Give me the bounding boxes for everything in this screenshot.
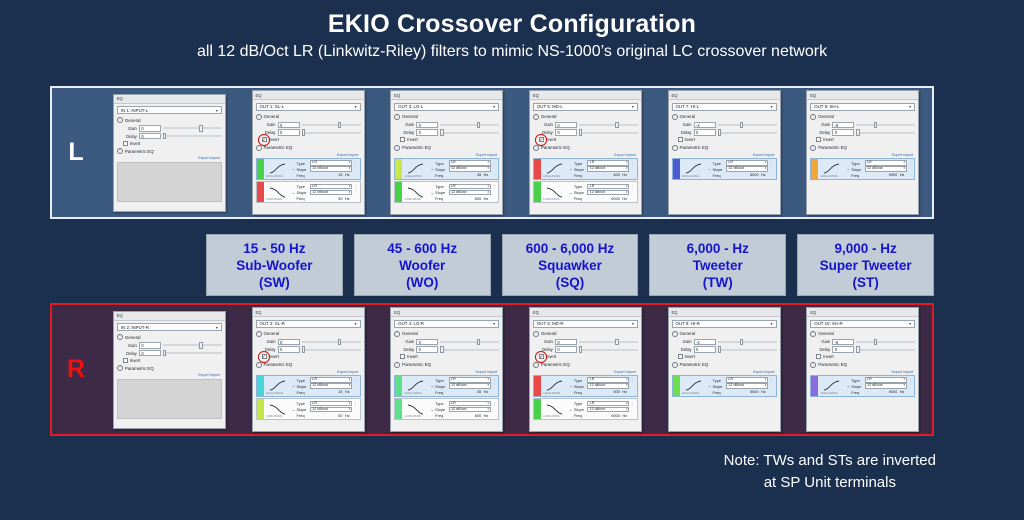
filter-menu-icon[interactable]: ⋮ xyxy=(354,378,358,383)
filter-freq-value[interactable]: 15 xyxy=(310,173,344,177)
delay-slider[interactable] xyxy=(163,133,222,140)
gain-input[interactable]: 0 xyxy=(555,122,577,129)
filter-band-lowpass[interactable]: LOW-PASS⌄TypeLR▾⋮Slope12 dB/oct▾Freq50Hz xyxy=(256,398,361,420)
filter-band-highpass[interactable]: HIGH-PASS⌄TypeLR▾⋮Slope12 dB/oct▾Freq15H… xyxy=(256,375,361,397)
eq-window[interactable]: EQIN 2: INPUT-R▾⌃GeneralGain0Delay0Inver… xyxy=(113,311,226,429)
delay-control[interactable]: Delay0 xyxy=(539,346,638,353)
delay-control[interactable]: Delay0 xyxy=(123,350,222,357)
device-select[interactable]: OUT 6: MD-R▾ xyxy=(533,320,638,328)
filter-slope-select[interactable]: 12 dB/oct▾ xyxy=(310,407,352,412)
parametric-eq-section-header[interactable]: ⌃Parametric EQ xyxy=(117,365,222,371)
general-section-header[interactable]: ⌃General xyxy=(117,334,222,340)
invert-label: Invert xyxy=(546,354,556,359)
filter-kind-label: HIGH-PASS xyxy=(405,174,422,178)
filter-freq-value[interactable]: 6000 xyxy=(726,390,760,394)
invert-control[interactable]: Invert xyxy=(816,137,915,142)
band-frequency-range: 45 - 600 Hz xyxy=(387,240,457,257)
eq-window-title: EQ xyxy=(530,91,641,100)
invert-checkbox[interactable]: ✓ xyxy=(262,137,267,142)
gain-control[interactable]: Gain-4 xyxy=(678,122,777,129)
invert-control[interactable]: Invert xyxy=(123,358,222,363)
parametric-eq-section-header[interactable]: ⌃Parametric EQ xyxy=(117,148,222,154)
right-panel-group: EQIN 2: INPUT-R▾⌃GeneralGain0Delay0Inver… xyxy=(100,305,932,434)
gain-control[interactable]: Gain0 xyxy=(123,342,222,349)
invert-checkbox[interactable] xyxy=(816,137,821,142)
filter-type-select[interactable]: LR▾ xyxy=(587,401,629,406)
gain-slider[interactable] xyxy=(718,339,777,346)
invert-checkbox[interactable] xyxy=(123,141,128,146)
eq-window[interactable]: EQOUT 7: HI-L▾⌃GeneralGain-4Delay0Invert… xyxy=(668,90,781,215)
invert-control[interactable]: Invert xyxy=(678,137,777,142)
eq-window-title: EQ xyxy=(114,95,225,104)
eq-window[interactable]: EQOUT 2: SL-R▾⌃GeneralGain0Delay0✓Invert… xyxy=(252,307,365,432)
filter-band-lowpass[interactable]: LOW-PASS⌄TypeLR▾⋮Slope12 dB/oct▾Freq6000… xyxy=(533,398,638,420)
gain-label: Gain xyxy=(262,339,276,344)
filter-band-highpass[interactable]: HIGH-PASS⌄TypeLR▾⋮Slope12 dB/oct▾Freq600… xyxy=(533,158,638,180)
filter-band-highpass[interactable]: HIGH-PASS⌄TypeLR▾⋮Slope12 dB/oct▾Freq45H… xyxy=(394,375,499,397)
device-select[interactable]: OUT 4: LO-R▾ xyxy=(394,320,499,328)
filter-band-highpass[interactable]: HIGH-PASS⌄TypeLR▾⋮Slope12 dB/oct▾Freq15H… xyxy=(256,158,361,180)
gain-input[interactable]: 0 xyxy=(416,122,438,129)
filter-slope-select[interactable]: 12 dB/oct▾ xyxy=(726,166,768,171)
delay-slider[interactable] xyxy=(163,350,222,357)
filter-freq-value[interactable]: 600 xyxy=(587,173,621,177)
filter-type-select[interactable]: LR▾ xyxy=(449,184,491,189)
eq-window-title: EQ xyxy=(391,308,502,317)
delay-input[interactable]: 0 xyxy=(139,350,161,357)
filter-menu-icon[interactable]: ⋮ xyxy=(631,378,635,383)
eq-window[interactable]: EQOUT 10: SH-R▾⌃GeneralGain-5Delay0Inver… xyxy=(806,307,919,432)
delay-slider[interactable] xyxy=(718,346,777,353)
parametric-eq-section-header[interactable]: ⌃Parametric EQ xyxy=(256,145,361,151)
general-section-header[interactable]: ⌃General xyxy=(533,331,638,337)
filter-band-lowpass[interactable]: LOW-PASS⌄TypeLR▾⋮Slope12 dB/oct▾Freq50Hz xyxy=(256,181,361,203)
filter-menu-icon[interactable]: ⋮ xyxy=(354,161,358,166)
delay-input[interactable]: 0 xyxy=(555,129,577,136)
invert-control[interactable]: Invert xyxy=(816,354,915,359)
filter-menu-icon[interactable]: ⋮ xyxy=(631,401,635,406)
filter-slope-label: Slope xyxy=(435,384,447,389)
delay-control[interactable]: Delay0 xyxy=(539,129,638,136)
invert-label: Invert xyxy=(130,141,140,146)
invert-control[interactable]: Invert xyxy=(678,354,777,359)
device-select[interactable]: OUT 9: SH-L▾ xyxy=(810,103,915,111)
filter-slope-select[interactable]: 12 dB/oct▾ xyxy=(449,190,491,195)
filter-band-highpass[interactable]: HIGH-PASS⌄TypeLR▾⋮Slope12 dB/oct▾Freq600… xyxy=(533,375,638,397)
delay-input[interactable]: 0 xyxy=(416,129,438,136)
filter-type-select[interactable]: LR▾ xyxy=(310,401,352,406)
filter-slope-select[interactable]: 12 dB/oct▾ xyxy=(449,407,491,412)
parametric-eq-section-header[interactable]: ⌃Parametric EQ xyxy=(672,145,777,151)
filter-slope-label: Slope xyxy=(851,384,863,389)
delay-input[interactable]: 0 xyxy=(278,346,300,353)
general-section-header[interactable]: ⌃General xyxy=(672,114,777,120)
filter-slope-select[interactable]: 12 dB/oct▾ xyxy=(865,166,907,171)
filter-slope-select[interactable]: 12 dB/oct▾ xyxy=(310,190,352,195)
general-section-header[interactable]: ⌃General xyxy=(533,114,638,120)
filter-color-bar xyxy=(811,159,818,179)
delay-label: Delay xyxy=(816,347,830,352)
parametric-eq-label: Parametric EQ xyxy=(541,145,570,150)
filter-band-highpass[interactable]: HIGH-PASS⌄TypeLR▾⋮Slope12 dB/oct▾Freq600… xyxy=(672,158,777,180)
export-import-link[interactable]: Export Import xyxy=(256,153,359,157)
filter-color-bar xyxy=(257,182,264,202)
invert-control[interactable]: Invert xyxy=(123,141,222,146)
band-label-tw: 6,000 - HzTweeter(TW) xyxy=(649,234,786,296)
collapse-icon: ⌃ xyxy=(256,114,262,120)
filter-type-select[interactable]: LR▾ xyxy=(865,160,907,165)
parametric-eq-section-header[interactable]: ⌃Parametric EQ xyxy=(810,145,915,151)
gain-control[interactable]: Gain0 xyxy=(539,122,638,129)
export-import-link[interactable]: Export Import xyxy=(810,153,913,157)
page-title: EKIO Crossover Configuration xyxy=(0,9,1024,39)
filter-menu-icon[interactable]: ⋮ xyxy=(492,184,496,189)
eq-window[interactable]: EQOUT 9: SH-L▾⌃GeneralGain-5Delay0Invert… xyxy=(806,90,919,215)
eq-window[interactable]: EQIN 1: INPUT-L▾⌃GeneralGain0Delay0Inver… xyxy=(113,94,226,212)
device-select[interactable]: IN 1: INPUT-L▾ xyxy=(117,106,222,114)
gain-slider[interactable] xyxy=(302,122,361,129)
gain-control[interactable]: Gain0 xyxy=(262,339,361,346)
gain-slider[interactable] xyxy=(302,339,361,346)
filter-kind-label: HIGH-PASS xyxy=(266,391,283,395)
delay-slider[interactable] xyxy=(856,129,915,136)
filter-color-bar xyxy=(257,376,264,396)
export-import-link[interactable]: Export Import xyxy=(533,370,636,374)
filter-type-select[interactable]: LR▾ xyxy=(449,160,491,165)
chevron-down-icon: ▾ xyxy=(216,325,218,330)
filter-band-lowpass[interactable]: LOW-PASS⌄TypeLR▾⋮Slope12 dB/oct▾Freq6000… xyxy=(533,181,638,203)
invert-checkbox[interactable] xyxy=(400,137,405,142)
filter-curve-icon: LOW-PASS xyxy=(541,399,568,419)
parametric-eq-section-header[interactable]: ⌃Parametric EQ xyxy=(533,145,638,151)
invert-control[interactable]: ✓Invert xyxy=(262,354,361,359)
filter-curve-icon: HIGH-PASS xyxy=(264,159,291,179)
filter-kind-label: HIGH-PASS xyxy=(682,391,699,395)
gain-input[interactable]: 0 xyxy=(278,122,300,129)
filter-type-label: Type xyxy=(297,161,309,166)
invert-control[interactable]: ✓Invert xyxy=(539,137,638,142)
filter-menu-icon[interactable]: ⋮ xyxy=(631,161,635,166)
filter-menu-icon[interactable]: ⋮ xyxy=(492,378,496,383)
parametric-eq-section-header[interactable]: ⌃Parametric EQ xyxy=(256,362,361,368)
collapse-icon: ⌃ xyxy=(810,362,816,368)
filter-type-select[interactable]: LR▾ xyxy=(310,184,352,189)
gain-control[interactable]: Gain0 xyxy=(262,122,361,129)
delay-control[interactable]: Delay0 xyxy=(262,129,361,136)
delay-slider[interactable] xyxy=(302,129,361,136)
filter-type-select[interactable]: LR▾ xyxy=(587,184,629,189)
delay-control[interactable]: Delay0 xyxy=(678,129,777,136)
filter-menu-icon[interactable]: ⋮ xyxy=(631,184,635,189)
device-select[interactable]: OUT 5: MD-L▾ xyxy=(533,103,638,111)
gain-control[interactable]: Gain0 xyxy=(400,339,499,346)
delay-control[interactable]: Delay0 xyxy=(816,346,915,353)
general-section-header[interactable]: ⌃General xyxy=(394,331,499,337)
invert-label: Invert xyxy=(685,137,695,142)
filter-band-highpass[interactable]: HIGH-PASS⌄TypeLR▾⋮Slope12 dB/oct▾Freq600… xyxy=(672,375,777,397)
delay-input[interactable]: 0 xyxy=(416,346,438,353)
gain-input[interactable]: 0 xyxy=(555,339,577,346)
filter-freq-value[interactable]: 6000 xyxy=(726,173,760,177)
gain-slider[interactable] xyxy=(163,342,222,349)
filter-type-select[interactable]: LR▾ xyxy=(449,401,491,406)
device-select-value: IN 1: INPUT-L xyxy=(121,108,148,113)
gain-slider[interactable] xyxy=(856,122,915,129)
gain-control[interactable]: Gain0 xyxy=(123,125,222,132)
filter-type-label: Type xyxy=(713,161,725,166)
general-section-header[interactable]: ⌃General xyxy=(672,331,777,337)
filter-kind-label: LOW-PASS xyxy=(405,414,421,418)
left-channel-row: L EQIN 1: INPUT-L▾⌃GeneralGain0Delay0Inv… xyxy=(50,86,934,219)
filter-freq-value[interactable]: 6000 xyxy=(587,197,621,201)
filter-slope-select[interactable]: 12 dB/oct▾ xyxy=(587,190,629,195)
invert-checkbox[interactable] xyxy=(123,358,128,363)
delay-label: Delay xyxy=(400,130,414,135)
delay-label: Delay xyxy=(123,351,137,356)
general-section-label: General xyxy=(818,114,834,119)
filter-menu-icon[interactable]: ⋮ xyxy=(908,378,912,383)
general-section-header[interactable]: ⌃General xyxy=(117,117,222,123)
device-select[interactable]: OUT 3: LO-L▾ xyxy=(394,103,499,111)
filter-freq-value[interactable]: 45 xyxy=(449,390,483,394)
general-section-header[interactable]: ⌃General xyxy=(256,114,361,120)
delay-control[interactable]: Delay0 xyxy=(123,133,222,140)
filter-kind-label: LOW-PASS xyxy=(405,197,421,201)
invert-control[interactable]: ✓Invert xyxy=(539,354,638,359)
filter-band-highpass[interactable]: HIGH-PASS⌄TypeLR▾⋮Slope12 dB/oct▾Freq900… xyxy=(810,158,915,180)
filter-slope-select[interactable]: 12 dB/oct▾ xyxy=(587,407,629,412)
eq-window[interactable]: EQOUT 5: MD-L▾⌃GeneralGain0Delay0✓Invert… xyxy=(529,90,642,215)
eq-window-title: EQ xyxy=(391,91,502,100)
filter-list: HIGH-PASS⌄TypeLR▾⋮Slope12 dB/oct▾Freq45H… xyxy=(394,375,499,421)
invert-control[interactable]: ✓Invert xyxy=(262,137,361,142)
delay-control[interactable]: Delay0 xyxy=(678,346,777,353)
delay-label: Delay xyxy=(678,347,692,352)
delay-input[interactable]: 0 xyxy=(832,129,854,136)
delay-slider[interactable] xyxy=(856,346,915,353)
gain-input[interactable]: 0 xyxy=(416,339,438,346)
delay-input[interactable]: 0 xyxy=(694,346,716,353)
gain-input[interactable]: -5 xyxy=(832,122,854,129)
filter-freq-value[interactable]: 50 xyxy=(310,414,344,418)
eq-window[interactable]: EQOUT 1: SL-L▾⌃GeneralGain0Delay0✓Invert… xyxy=(252,90,365,215)
filter-slope-label: Slope xyxy=(435,167,447,172)
delay-label: Delay xyxy=(816,130,830,135)
filter-type-select[interactable]: LR▾ xyxy=(449,377,491,382)
parametric-eq-section-header[interactable]: ⌃Parametric EQ xyxy=(533,362,638,368)
filter-type-label: Type xyxy=(435,161,447,166)
delay-input[interactable]: 0 xyxy=(278,129,300,136)
filter-slope-select[interactable]: 12 dB/oct▾ xyxy=(449,166,491,171)
right-channel-row: R EQIN 2: INPUT-R▾⌃GeneralGain0Delay0Inv… xyxy=(50,303,934,436)
invert-checkbox[interactable] xyxy=(816,354,821,359)
gain-control[interactable]: Gain0 xyxy=(539,339,638,346)
general-section-header[interactable]: ⌃General xyxy=(256,331,361,337)
filter-type-label: Type xyxy=(713,378,725,383)
filter-freq-value[interactable]: 50 xyxy=(310,197,344,201)
filter-band-highpass[interactable]: HIGH-PASS⌄TypeLR▾⋮Slope12 dB/oct▾Freq45H… xyxy=(394,158,499,180)
filter-type-select[interactable]: LR▾ xyxy=(865,377,907,382)
general-section-header[interactable]: ⌃General xyxy=(810,114,915,120)
delay-input[interactable]: 0 xyxy=(139,133,161,140)
filter-freq-label: Freq xyxy=(435,196,447,201)
delay-control[interactable]: Delay0 xyxy=(816,129,915,136)
parametric-eq-section-header[interactable]: ⌃Parametric EQ xyxy=(394,145,499,151)
filter-type-select[interactable]: LR▾ xyxy=(587,160,629,165)
filter-type-select[interactable]: LR▾ xyxy=(310,160,352,165)
parametric-eq-section-header[interactable]: ⌃Parametric EQ xyxy=(810,362,915,368)
device-select[interactable]: OUT 10: SH-R▾ xyxy=(810,320,915,328)
export-import-link[interactable]: Export Import xyxy=(117,373,220,377)
invert-checkbox[interactable] xyxy=(400,354,405,359)
invert-control[interactable]: Invert xyxy=(400,354,499,359)
filter-slope-select[interactable]: 12 dB/oct▾ xyxy=(865,383,907,388)
gain-input[interactable]: 0 xyxy=(278,339,300,346)
export-import-link[interactable]: Export Import xyxy=(394,370,497,374)
filter-menu-icon[interactable]: ⋮ xyxy=(354,401,358,406)
filter-slope-label: Slope xyxy=(574,190,586,195)
gain-input[interactable]: -4 xyxy=(694,122,716,129)
delay-slider[interactable] xyxy=(579,129,638,136)
gain-slider[interactable] xyxy=(163,125,222,132)
gain-slider[interactable] xyxy=(579,122,638,129)
filter-type-select[interactable]: LR▾ xyxy=(587,377,629,382)
filter-slope-select[interactable]: 12 dB/oct▾ xyxy=(587,166,629,171)
empty-filter-area xyxy=(117,379,222,419)
gain-slider[interactable] xyxy=(440,122,499,129)
invert-control[interactable]: Invert xyxy=(400,137,499,142)
export-import-link[interactable]: Export Import xyxy=(394,153,497,157)
device-select[interactable]: OUT 1: SL-L▾ xyxy=(256,103,361,111)
filter-slope-label: Slope xyxy=(297,190,309,195)
device-select-value: OUT 2: SL-R xyxy=(260,321,285,326)
collapse-icon: ⌃ xyxy=(533,362,539,368)
invert-checkbox[interactable] xyxy=(678,354,683,359)
channel-label-left: L xyxy=(52,138,100,167)
filter-color-bar xyxy=(534,399,541,419)
filter-menu-icon[interactable]: ⋮ xyxy=(492,161,496,166)
filter-menu-icon[interactable]: ⋮ xyxy=(492,401,496,406)
filter-slope-select[interactable]: 12 dB/oct▾ xyxy=(310,166,352,171)
filter-slope-select[interactable]: 12 dB/oct▾ xyxy=(726,383,768,388)
gain-control[interactable]: Gain-5 xyxy=(816,122,915,129)
gain-input[interactable]: -5 xyxy=(832,339,854,346)
gain-slider[interactable] xyxy=(579,339,638,346)
filter-freq-value[interactable]: 600 xyxy=(587,390,621,394)
device-select[interactable]: OUT 8: HI-R▾ xyxy=(672,320,777,328)
filter-freq-value[interactable]: 9000 xyxy=(865,390,899,394)
export-import-link[interactable]: Export Import xyxy=(256,370,359,374)
filter-freq-unit: Hz xyxy=(900,390,907,394)
filter-slope-select[interactable]: 12 dB/oct▾ xyxy=(587,383,629,388)
filter-freq-label: Freq xyxy=(574,173,586,178)
gain-slider[interactable] xyxy=(440,339,499,346)
parametric-eq-section-header[interactable]: ⌃Parametric EQ xyxy=(394,362,499,368)
export-import-link[interactable]: Export Import xyxy=(810,370,913,374)
filter-freq-value[interactable]: 9000 xyxy=(865,173,899,177)
parametric-eq-label: Parametric EQ xyxy=(680,145,709,150)
delay-control[interactable]: Delay0 xyxy=(400,346,499,353)
general-section-header[interactable]: ⌃General xyxy=(394,114,499,120)
filter-menu-icon[interactable]: ⋮ xyxy=(770,378,774,383)
eq-window[interactable]: EQOUT 8: HI-R▾⌃GeneralGain-4Delay0Invert… xyxy=(668,307,781,432)
gain-slider[interactable] xyxy=(718,122,777,129)
filter-slope-select[interactable]: 12 dB/oct▾ xyxy=(449,383,491,388)
filter-freq-unit: Hz xyxy=(345,414,352,418)
filter-freq-unit: Hz xyxy=(900,173,907,177)
general-section-header[interactable]: ⌃General xyxy=(810,331,915,337)
gain-slider[interactable] xyxy=(856,339,915,346)
filter-freq-value[interactable]: 6000 xyxy=(587,414,621,418)
parametric-eq-section-header[interactable]: ⌃Parametric EQ xyxy=(672,362,777,368)
filter-freq-value[interactable]: 45 xyxy=(449,173,483,177)
filter-slope-select[interactable]: 12 dB/oct▾ xyxy=(310,383,352,388)
chevron-down-icon: ▾ xyxy=(354,104,356,109)
device-select[interactable]: OUT 7: HI-L▾ xyxy=(672,103,777,111)
invert-label: Invert xyxy=(546,137,556,142)
gain-control[interactable]: Gain-5 xyxy=(816,339,915,346)
delay-input[interactable]: 0 xyxy=(555,346,577,353)
eq-window[interactable]: EQOUT 4: LO-R▾⌃GeneralGain0Delay0Invert⌃… xyxy=(390,307,503,432)
filter-menu-icon[interactable]: ⋮ xyxy=(354,184,358,189)
filter-type-select[interactable]: LR▾ xyxy=(726,377,768,382)
export-import-link[interactable]: Export Import xyxy=(672,153,775,157)
device-select[interactable]: OUT 2: SL-R▾ xyxy=(256,320,361,328)
delay-slider[interactable] xyxy=(718,129,777,136)
delay-control[interactable]: Delay0 xyxy=(262,346,361,353)
collapse-icon: ⌃ xyxy=(810,114,816,120)
filter-band-lowpass[interactable]: LOW-PASS⌄TypeLR▾⋮Slope12 dB/oct▾Freq600H… xyxy=(394,181,499,203)
filter-type-label: Type xyxy=(435,378,447,383)
gain-input[interactable]: 0 xyxy=(139,125,161,132)
filter-band-lowpass[interactable]: LOW-PASS⌄TypeLR▾⋮Slope12 dB/oct▾Freq600H… xyxy=(394,398,499,420)
filter-freq-value[interactable]: 600 xyxy=(449,197,483,201)
filter-freq-value[interactable]: 15 xyxy=(310,390,344,394)
general-section-label: General xyxy=(680,114,696,119)
filter-menu-icon[interactable]: ⋮ xyxy=(770,161,774,166)
export-import-link[interactable]: Export Import xyxy=(672,370,775,374)
delay-control[interactable]: Delay0 xyxy=(400,129,499,136)
delay-slider[interactable] xyxy=(302,346,361,353)
invert-checkbox[interactable] xyxy=(678,137,683,142)
filter-freq-label: Freq xyxy=(297,390,309,395)
eq-window-title: EQ xyxy=(669,91,780,100)
delay-slider[interactable] xyxy=(579,346,638,353)
invert-checkbox[interactable]: ✓ xyxy=(539,137,544,142)
gain-input[interactable]: 0 xyxy=(139,342,161,349)
gain-input[interactable]: -4 xyxy=(694,339,716,346)
filter-band-highpass[interactable]: HIGH-PASS⌄TypeLR▾⋮Slope12 dB/oct▾Freq900… xyxy=(810,375,915,397)
delay-slider[interactable] xyxy=(440,346,499,353)
gain-control[interactable]: Gain0 xyxy=(400,122,499,129)
filter-freq-value[interactable]: 600 xyxy=(449,414,483,418)
invert-checkbox[interactable]: ✓ xyxy=(539,354,544,359)
eq-window[interactable]: EQOUT 6: MD-R▾⌃GeneralGain0Delay0✓Invert… xyxy=(529,307,642,432)
delay-slider[interactable] xyxy=(440,129,499,136)
filter-type-select[interactable]: LR▾ xyxy=(726,160,768,165)
export-import-link[interactable]: Export Import xyxy=(533,153,636,157)
gain-control[interactable]: Gain-4 xyxy=(678,339,777,346)
delay-input[interactable]: 0 xyxy=(694,129,716,136)
filter-curve-icon: HIGH-PASS xyxy=(680,376,707,396)
invert-checkbox[interactable]: ✓ xyxy=(262,354,267,359)
eq-window[interactable]: EQOUT 3: LO-L▾⌃GeneralGain0Delay0Invert⌃… xyxy=(390,90,503,215)
device-select[interactable]: IN 2: INPUT-R▾ xyxy=(117,323,222,331)
filter-type-select[interactable]: LR▾ xyxy=(310,377,352,382)
filter-menu-icon[interactable]: ⋮ xyxy=(908,161,912,166)
export-import-link[interactable]: Export Import xyxy=(117,156,220,160)
delay-input[interactable]: 0 xyxy=(832,346,854,353)
